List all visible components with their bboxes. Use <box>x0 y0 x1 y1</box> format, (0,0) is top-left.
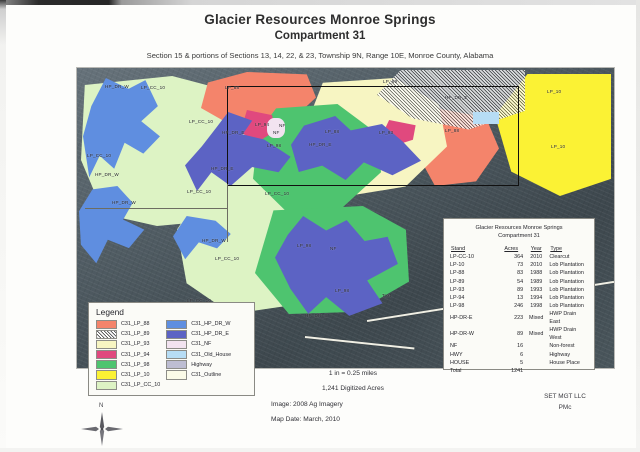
map-polygon-label: HP_DR_W <box>202 238 226 243</box>
table-header-row: Stand Acres Year Type <box>450 245 588 253</box>
legend-item[interactable]: C31_NF <box>166 340 231 348</box>
table-title-line2: Compartment 31 <box>450 232 588 240</box>
scan-edge-left <box>0 0 6 452</box>
legend-title: Legend <box>96 307 248 317</box>
cell-acres: 89 <box>500 326 523 342</box>
cell-year: Mixed <box>523 326 549 342</box>
cell-acres: 89 <box>500 286 523 294</box>
cell-year <box>523 367 549 375</box>
legend-item-label: C31_LP_98 <box>121 362 149 368</box>
legend-swatch-icon <box>96 350 117 359</box>
legend-item[interactable]: C31_LP_98 <box>96 361 160 369</box>
table-total-row: Total1241 <box>450 367 588 375</box>
title-block: Glacier Resources Monroe Springs Compart… <box>0 12 640 60</box>
cell-stand: LP-CC-10 <box>450 253 500 261</box>
legend-item-label: C31_NF <box>191 341 211 347</box>
map-page: Glacier Resources Monroe Springs Compart… <box>0 0 640 452</box>
legend-column-right: C31_HP_DR_WC31_HP_DR_EC31_NFC31_Old_Hous… <box>166 320 231 389</box>
cell-type: Lob Plantation <box>549 294 588 302</box>
legend-item[interactable]: C31_LP_89 <box>96 330 160 338</box>
scan-edge-bottom <box>0 448 640 452</box>
legend-item[interactable]: Highway <box>166 361 231 369</box>
map-polygon-label: HP_DR_E <box>211 166 234 171</box>
legend-item-label: Highway <box>191 362 212 368</box>
stand-summary-table: Stand Acres Year Type LP-CC-103642010Cle… <box>450 245 588 375</box>
map-polygon-label: LP_CC_10 <box>141 85 165 90</box>
legend-item[interactable]: C31_HP_DR_E <box>166 330 231 338</box>
map-polygon-label: LP_88 <box>225 85 239 90</box>
legend-item[interactable]: C31_Outline <box>166 371 231 379</box>
cell-stand: NF <box>450 342 500 350</box>
map-info-block: 1 in = 0.25 miles 1,241 Digitized Acres … <box>268 370 438 431</box>
map-polygon-label: LP_10 <box>551 144 565 149</box>
map-polygon-label: HP_DR_W <box>105 84 129 89</box>
table-title-line1: Glacier Resources Monroe Springs <box>450 224 588 232</box>
legend-item-label: C31_LP_CC_10 <box>121 382 160 388</box>
cell-year: Mixed <box>523 310 549 326</box>
legend-item-label: C31_LP_10 <box>121 372 149 378</box>
cell-year <box>523 351 549 359</box>
map-polygon-label: LP_98 <box>297 243 311 248</box>
cell-acres: 6 <box>500 351 523 359</box>
table-row: LP-93891993Lob Plantation <box>450 286 588 294</box>
legend-item-label: C31_HP_DR_E <box>191 331 229 337</box>
digitized-acres-text: 1,241 Digitized Acres <box>268 385 438 392</box>
table-row: HP-DR-E223MixedHWP Drain East <box>450 310 588 326</box>
table-row: LP-CC-103642010Clearcut <box>450 253 588 261</box>
scan-edge-top <box>0 0 640 5</box>
map-polygon-label: LP_CC_10 <box>215 256 239 261</box>
legend-item[interactable]: C31_Old_House <box>166 351 231 359</box>
cell-year <box>523 359 549 367</box>
map-date-text: Map Date: March, 2010 <box>268 416 438 423</box>
map-polygon-label: HP_DR_E <box>222 130 245 135</box>
map-polygon-label: LP_10 <box>547 89 561 94</box>
cell-type: Lob Plantation <box>549 286 588 294</box>
map-polygon-label: HP_DR_W <box>112 200 136 205</box>
cell-type: Highway <box>549 351 588 359</box>
legend-swatch-icon <box>96 370 117 379</box>
map-polygon-label: LP_88 <box>445 128 459 133</box>
cell-stand: LP-88 <box>450 269 500 277</box>
map-polygon-label: LP_98 <box>267 143 281 148</box>
cell-year: 1994 <box>523 294 549 302</box>
page-subtitle: Compartment 31 <box>0 30 640 42</box>
map-polygon-label: NF <box>273 130 280 135</box>
map-polygon-label: LP_89 <box>383 79 397 84</box>
table-row: LP-94131994Lob Plantation <box>450 294 588 302</box>
legend-item[interactable]: C31_LP_CC_10 <box>96 381 160 389</box>
cell-type: Lob Plantation <box>549 302 588 310</box>
map-polygon-label: HP_DR_E <box>445 95 468 100</box>
legend-item[interactable]: C31_LP_10 <box>96 371 160 379</box>
cell-type: Clearcut <box>549 253 588 261</box>
table-row: LP-10732010Lob Plantation <box>450 261 588 269</box>
cell-year: 2010 <box>523 253 549 261</box>
cell-acres: 1241 <box>500 367 523 375</box>
legend-item[interactable]: C31_LP_94 <box>96 351 160 359</box>
cell-stand: LP-10 <box>450 261 500 269</box>
legend-item-label: C31_LP_89 <box>121 331 149 337</box>
cell-type: House Place <box>549 359 588 367</box>
cell-type: Non-forest <box>549 342 588 350</box>
cell-year: 1989 <box>523 278 549 286</box>
table-row: HWY6Highway <box>450 351 588 359</box>
cell-acres: 83 <box>500 269 523 277</box>
signature-block: SET MGT LLC PMc <box>520 392 610 414</box>
cell-stand: HP-DR-W <box>450 326 500 342</box>
legend-item-label: C31_LP_93 <box>121 341 149 347</box>
table-row: HP-DR-W89MixedHWP Drain West <box>450 326 588 342</box>
legend-box: Legend C31_LP_88C31_LP_89C31_LP_93C31_LP… <box>88 302 255 396</box>
table-row: LP-88831988Lob Plantation <box>450 269 588 277</box>
north-arrow-icon: N <box>80 404 124 448</box>
cell-stand: HOUSE <box>450 359 500 367</box>
legend-swatch-icon <box>96 360 117 369</box>
parcel-line-vertical <box>227 184 228 242</box>
legend-item-label: C31_Old_House <box>191 352 231 358</box>
table-row: LP-982461998Lob Plantation <box>450 302 588 310</box>
map-polygon-label: LP_88 <box>325 129 339 134</box>
map-polygon-label: LP_CC_10 <box>187 189 211 194</box>
imagery-source-text: Image: 2008 Ag Imagery <box>268 401 438 408</box>
legend-swatch-icon <box>96 330 117 339</box>
cell-acres: 5 <box>500 359 523 367</box>
map-polygon-label: NF <box>279 123 286 128</box>
cell-stand: LP-89 <box>450 278 500 286</box>
cell-type: Lob Plantation <box>549 261 588 269</box>
compass-rose-icon <box>80 411 124 447</box>
cell-type: HWP Drain East <box>549 310 588 326</box>
legend-swatch-icon <box>96 320 117 329</box>
legend-item-label: C31_LP_88 <box>121 321 149 327</box>
map-polygon-label: LP_94 <box>255 122 269 127</box>
column-header-year: Year <box>523 245 549 253</box>
cell-type: HWP Drain West <box>549 326 588 342</box>
table-row: LP-89541989Lob Plantation <box>450 278 588 286</box>
map-polygon-label: HP_DR_W <box>95 172 119 177</box>
scale-text: 1 in = 0.25 miles <box>268 370 438 377</box>
cell-acres: 13 <box>500 294 523 302</box>
legend-swatch-icon <box>166 350 187 359</box>
company-name: SET MGT LLC <box>520 392 610 403</box>
cell-year: 2010 <box>523 261 549 269</box>
cell-acres: 364 <box>500 253 523 261</box>
section-description: Section 15 & portions of Sections 13, 14… <box>0 51 640 60</box>
map-polygon-label: LP_CC_10 <box>189 119 213 124</box>
map-polygon-label: LP_93 <box>379 130 393 135</box>
cell-acres: 16 <box>500 342 523 350</box>
cell-year: 1998 <box>523 302 549 310</box>
legend-swatch-icon <box>166 330 187 339</box>
cell-stand: LP-94 <box>450 294 500 302</box>
legend-swatch-icon <box>166 370 187 379</box>
scan-edge-right <box>636 0 640 452</box>
legend-swatch-icon <box>166 340 187 349</box>
column-header-stand: Stand <box>450 245 500 253</box>
map-polygon-label: LP_98 <box>335 288 349 293</box>
cell-stand: LP-93 <box>450 286 500 294</box>
cell-type: Lob Plantation <box>549 269 588 277</box>
map-polygon-label: HP_DR_E <box>305 313 328 318</box>
column-header-type: Type <box>549 245 588 253</box>
map-polygon-label: NF <box>330 246 337 251</box>
legend-item-label: C31_HP_DR_W <box>191 321 230 327</box>
legend-item-label: C31_LP_94 <box>121 352 149 358</box>
legend-item[interactable]: C31_LP_88 <box>96 320 160 328</box>
survey-boundary-section-15 <box>227 86 519 186</box>
map-polygon-label: Text <box>382 293 391 298</box>
cell-stand: HP-DR-E <box>450 310 500 326</box>
cell-acres: 246 <box>500 302 523 310</box>
map-polygon-label: LP_CC_10 <box>87 153 111 158</box>
legend-swatch-icon <box>96 381 117 390</box>
cell-stand: HWY <box>450 351 500 359</box>
cell-acres: 54 <box>500 278 523 286</box>
cell-acres: 223 <box>500 310 523 326</box>
parcel-line-horizontal <box>85 208 227 209</box>
column-header-acres: Acres <box>500 245 523 253</box>
page-title: Glacier Resources Monroe Springs <box>0 12 640 27</box>
cell-type: Lob Plantation <box>549 278 588 286</box>
cell-acres: 73 <box>500 261 523 269</box>
legend-swatch-icon <box>166 320 187 329</box>
legend-item-label: C31_Outline <box>191 372 221 378</box>
map-polygon-label: LP_CC_10 <box>265 191 289 196</box>
legend-column-left: C31_LP_88C31_LP_89C31_LP_93C31_LP_94C31_… <box>96 320 160 389</box>
legend-swatch-icon <box>166 360 187 369</box>
legend-swatch-icon <box>96 340 117 349</box>
table-row: NF16Non-forest <box>450 342 588 350</box>
map-polygon-label: HP_DR_E <box>309 142 332 147</box>
cell-stand: Total <box>450 367 500 375</box>
legend-item[interactable]: C31_LP_93 <box>96 340 160 348</box>
author-initials: PMc <box>520 403 610 414</box>
cell-year <box>523 342 549 350</box>
stand-summary-table-box: Glacier Resources Monroe Springs Compart… <box>443 218 595 370</box>
table-body: LP-CC-103642010ClearcutLP-10732010Lob Pl… <box>450 253 588 375</box>
cell-stand: LP-98 <box>450 302 500 310</box>
cell-type <box>549 367 588 375</box>
north-label: N <box>99 403 103 409</box>
table-row: HOUSE5House Place <box>450 359 588 367</box>
cell-year: 1988 <box>523 269 549 277</box>
cell-year: 1993 <box>523 286 549 294</box>
legend-item[interactable]: C31_HP_DR_W <box>166 320 231 328</box>
